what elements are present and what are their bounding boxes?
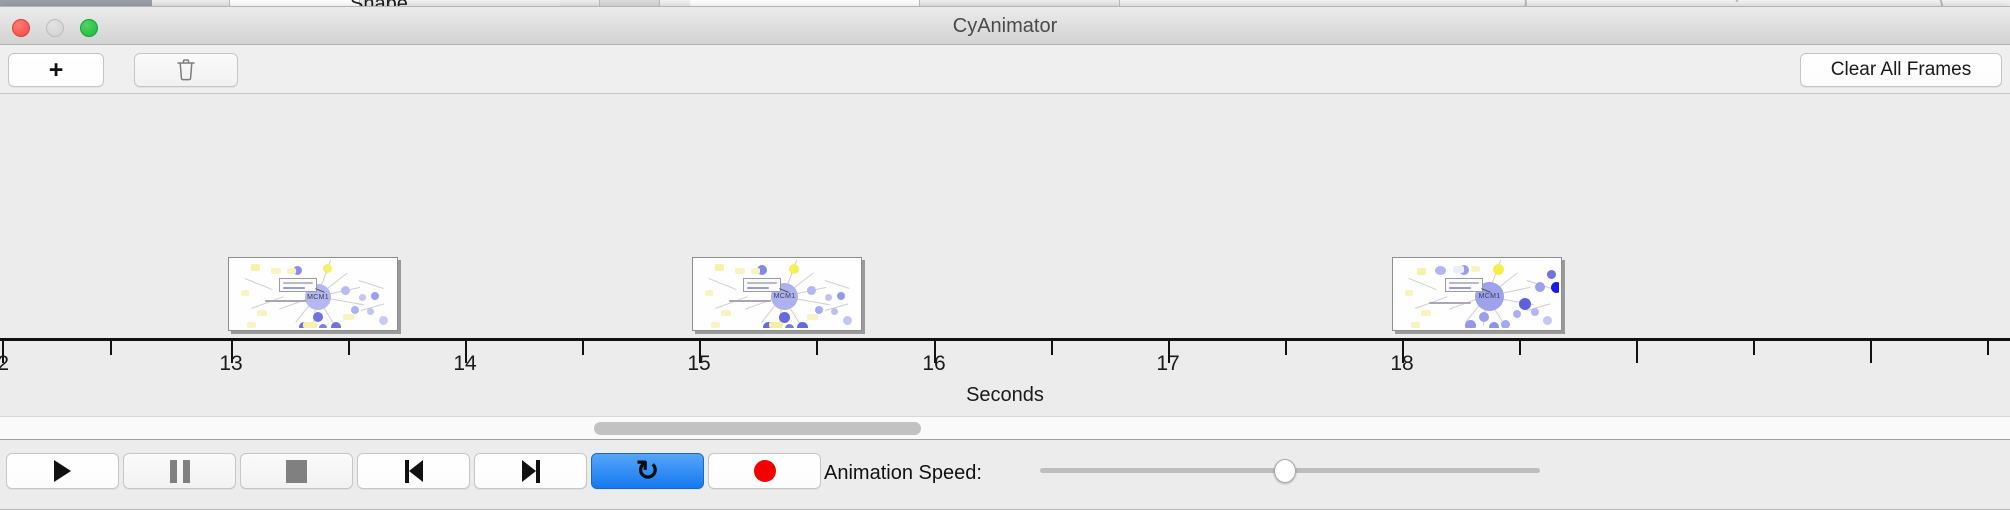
clear-all-frames-label: Clear All Frames [1831, 59, 1971, 81]
animation-speed-slider[interactable] [1040, 453, 1540, 489]
window-titlebar[interactable]: CyAnimator [0, 7, 2010, 45]
axis-tick-minor [1987, 341, 1989, 355]
network-tooltip [279, 278, 317, 292]
axis-tick-minor [1051, 341, 1053, 355]
play-icon [54, 460, 71, 482]
scrollbar-thumb[interactable] [594, 422, 921, 435]
timeline-panel[interactable]: MCM1 [0, 94, 2010, 416]
clear-all-frames-button[interactable]: Clear All Frames [1800, 53, 2002, 87]
stop-icon [286, 460, 307, 483]
axis-tick [1636, 341, 1638, 363]
axis-tick-label: 2 [0, 352, 9, 376]
timeline-frame-thumbnail[interactable]: MCM1 [692, 257, 862, 331]
axis-tick [1870, 341, 1872, 363]
axis-tick-label: 17 [1156, 352, 1179, 376]
play-button[interactable] [6, 453, 119, 489]
timeline-frame-thumbnail[interactable]: MCM1 [228, 257, 398, 331]
axis-tick-minor [110, 341, 112, 355]
trash-icon [175, 58, 197, 82]
axis-tick-label: 14 [453, 352, 476, 376]
previous-frame-button[interactable] [357, 453, 470, 489]
axis-tick-minor [1285, 341, 1287, 355]
axis-tick-label: 16 [922, 352, 945, 376]
delete-frame-button[interactable] [134, 53, 238, 87]
frame-toolbar: + Clear All Frames [0, 45, 2010, 94]
axis-tick-label: 13 [219, 352, 242, 376]
plus-icon: + [49, 58, 64, 83]
axis-tick-minor [816, 341, 818, 355]
network-tooltip [1445, 278, 1483, 292]
pause-icon [170, 460, 190, 483]
stop-button[interactable] [240, 453, 353, 489]
pause-button[interactable] [123, 453, 236, 489]
loop-button[interactable]: ↻ [591, 453, 704, 489]
network-tooltip [743, 278, 781, 292]
axis-tick-label: 18 [1390, 352, 1413, 376]
timeline-scrollbar[interactable] [0, 416, 2010, 440]
axis-tick-label: 15 [687, 352, 710, 376]
network-thumbnail-canvas: MCM1 [695, 260, 859, 328]
timeline-axis [0, 338, 2010, 341]
add-frame-button[interactable]: + [8, 53, 104, 87]
skip-back-icon [405, 460, 423, 483]
slider-thumb[interactable] [1274, 459, 1296, 483]
axis-title: Seconds [0, 384, 2010, 407]
axis-tick-minor [582, 341, 584, 355]
axis-tick-minor [1753, 341, 1755, 355]
record-icon [754, 460, 776, 482]
loop-icon: ↻ [636, 457, 659, 485]
next-frame-button[interactable] [474, 453, 587, 489]
network-thumbnail-canvas: MCM1 [231, 260, 395, 328]
animation-speed-label: Animation Speed: [824, 462, 982, 485]
cyanimator-window: CyAnimator + Clear All Frames [0, 6, 2010, 510]
window-title: CyAnimator [0, 7, 2010, 45]
skip-forward-icon [522, 460, 540, 483]
playback-controls: ↻ Animation Speed: [0, 440, 2010, 502]
axis-tick-minor [348, 341, 350, 355]
network-thumbnail-canvas: MCM1 [1395, 260, 1559, 328]
timeline-frame-thumbnail[interactable]: MCM1 [1392, 257, 1562, 331]
record-button[interactable] [708, 453, 821, 489]
axis-tick-minor [1519, 341, 1521, 355]
